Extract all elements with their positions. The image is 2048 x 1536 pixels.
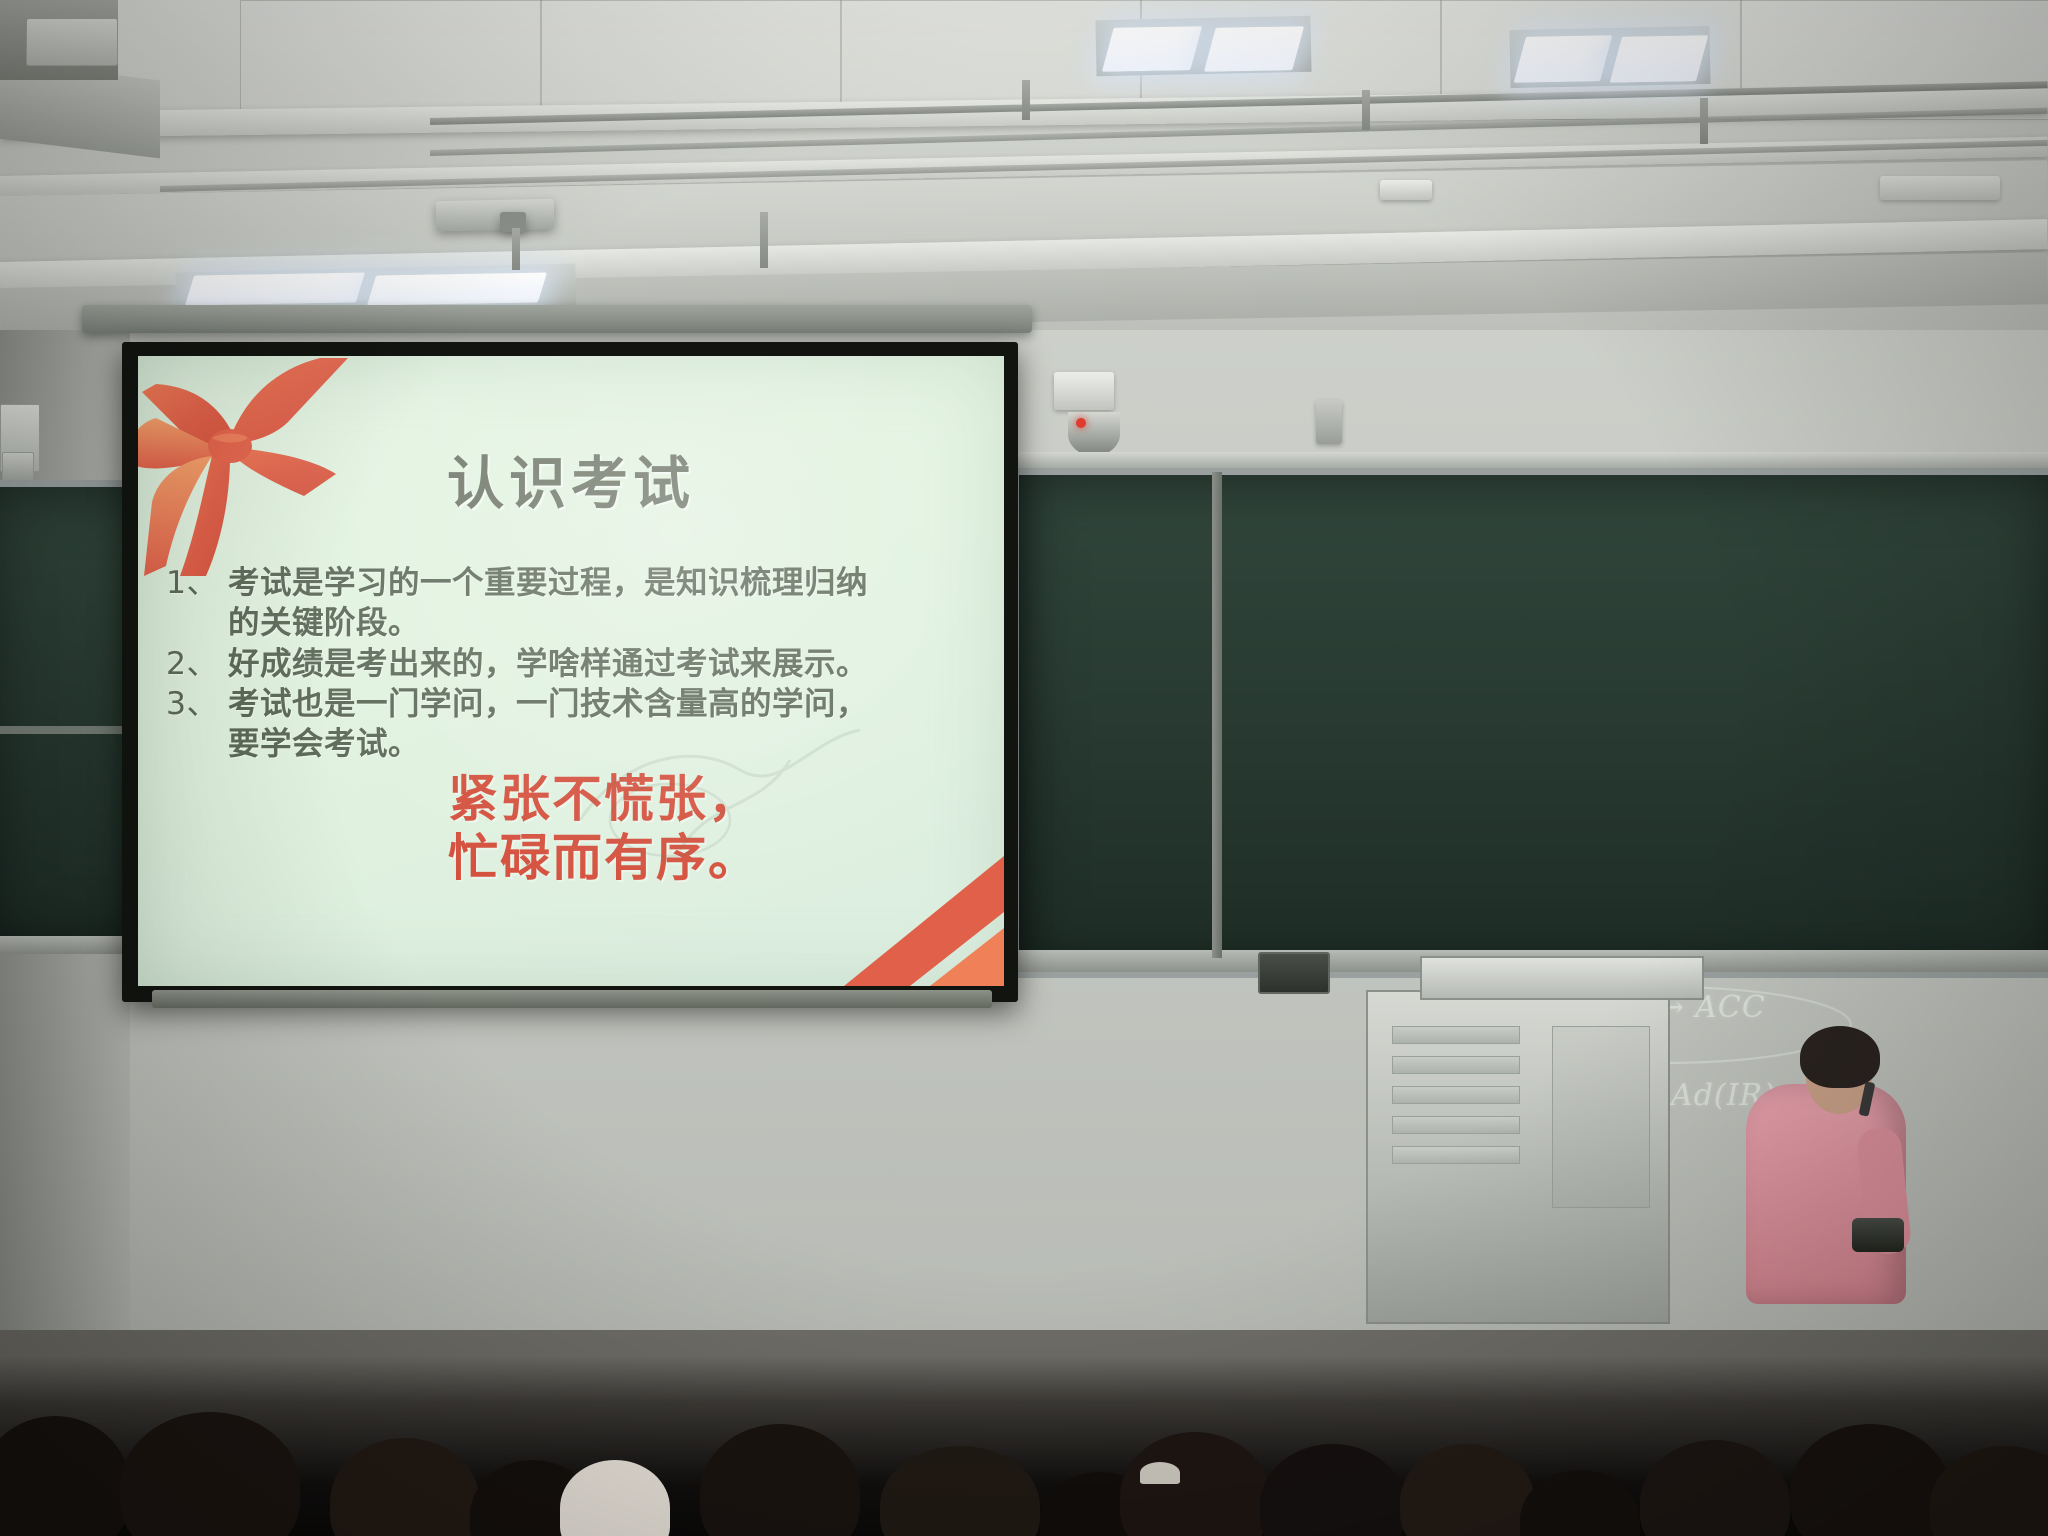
audience-head [0,1416,130,1536]
corner-stripes-decoration [814,816,1004,986]
audience-head [700,1424,860,1536]
ceiling-speaker [1380,180,1432,200]
wall-bracket [1316,400,1342,444]
bullet-text-1: 考试是学习的一个重要过程，是知识梳理归纳 [228,563,988,603]
bullet-item-3: 3、 考试也是一门学问，一门技术含量高的学问， [166,684,988,724]
audience-head [330,1438,480,1536]
ceiling-projector [436,199,555,231]
bullet-text-3-cont: 要学会考试。 [166,724,988,764]
ceiling-equipment [26,18,118,66]
screen-bottom-bar [152,990,992,1008]
wall-speaker [1258,952,1330,994]
bullet-text-2: 好成绩是考出来的，学啥样通过考试来展示。 [228,644,988,684]
bullet-text-1-cont: 的关键阶段。 [166,603,988,643]
lecture-hall-scene: [Ad(IR)] ⟶ ACC [ACC] ⟶ Ad(IR) [0,0,2048,1536]
audience-head [1640,1440,1790,1536]
audience-head [1120,1432,1270,1536]
ceiling-light-5 [185,273,365,306]
ceiling-light-4 [1610,35,1709,82]
audience-head [1260,1444,1405,1536]
bullet-number-1: 1、 [166,563,228,603]
audience-head [560,1460,670,1536]
ceiling-vent [1880,176,2000,200]
wall-ledge [1012,452,2048,468]
audience-head [120,1412,300,1536]
slide-title: 认识考试 [138,438,1004,520]
ceiling-light-2 [1204,26,1304,72]
podium-desk [1420,956,1704,1000]
screen-roller-housing [82,305,1032,333]
audience-head [1790,1424,1950,1536]
slide-bullet-list: 1、 考试是学习的一个重要过程，是知识梳理归纳 的关键阶段。 2、 好成绩是考出… [166,563,988,765]
bullet-number-3: 3、 [166,684,228,724]
wall-outlet[interactable] [2,452,34,482]
presentation-slide: 认识考试 1、 考试是学习的一个重要过程，是知识梳理归纳 的关键阶段。 2、 好… [138,356,1004,986]
audience-head [1520,1470,1640,1536]
ceiling-light-1 [1102,26,1202,72]
ceiling-light-6 [367,273,547,306]
board-divider [1212,472,1222,958]
bullet-number-2: 2、 [166,644,228,684]
bullet-item-1: 1、 考试是学习的一个重要过程，是知识梳理归纳 [166,563,988,603]
alarm-indicator-light [1076,418,1086,428]
bullet-text-3: 考试也是一门学问，一门技术含量高的学问， [228,684,988,724]
handheld-device[interactable] [1852,1218,1904,1252]
bullet-item-2: 2、 好成绩是考出来的，学啥样通过考试来展示。 [166,644,988,684]
fire-alarm-panel [1054,372,1114,410]
audience-head [880,1446,1040,1536]
blackboard-right [1012,468,2048,978]
audience-head [1930,1446,2048,1536]
dome-camera [1068,412,1120,456]
audience-cap-logo [1140,1462,1180,1484]
presenter-hair [1800,1026,1880,1088]
audience-silhouettes [0,1356,2048,1536]
audience-head [1400,1444,1535,1536]
ceiling-light-3 [1514,35,1613,82]
